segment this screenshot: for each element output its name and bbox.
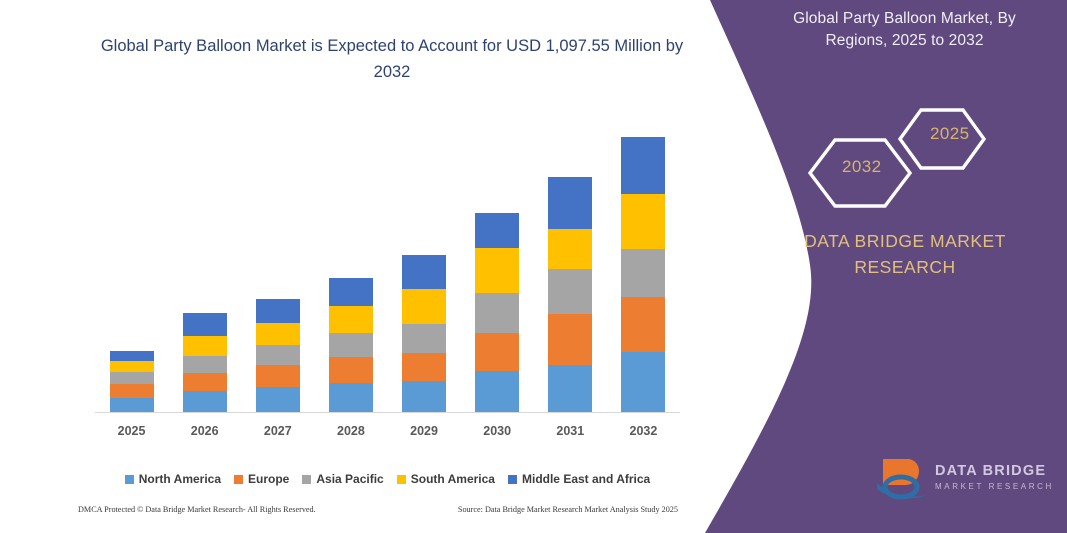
- segment-middle-east-and-africa-2026[interactable]: [183, 313, 227, 336]
- segment-asia-pacific-2030[interactable]: [475, 293, 519, 333]
- segment-south-america-2025[interactable]: [110, 361, 154, 372]
- segment-asia-pacific-2028[interactable]: [329, 333, 373, 357]
- segment-north-america-2028[interactable]: [329, 383, 373, 413]
- segment-middle-east-and-africa-2028[interactable]: [329, 278, 373, 306]
- segment-middle-east-and-africa-2025[interactable]: [110, 351, 154, 361]
- x-axis-line: [95, 412, 680, 413]
- bar-2030[interactable]: [475, 213, 519, 413]
- segment-north-america-2032[interactable]: [621, 352, 665, 413]
- segment-asia-pacific-2029[interactable]: [402, 324, 446, 353]
- bar-2027[interactable]: [256, 299, 300, 413]
- segment-asia-pacific-2025[interactable]: [110, 372, 154, 384]
- x-axis-label-2027: 2027: [243, 424, 313, 438]
- legend-swatch-icon: [234, 475, 243, 484]
- segment-north-america-2029[interactable]: [402, 381, 446, 413]
- side-panel-title: Global Party Balloon Market, By Regions,…: [762, 8, 1047, 53]
- segment-north-america-2031[interactable]: [548, 365, 592, 413]
- segment-middle-east-and-africa-2027[interactable]: [256, 299, 300, 323]
- segment-europe-2031[interactable]: [548, 314, 592, 365]
- segment-europe-2026[interactable]: [183, 373, 227, 391]
- legend-label: South America: [411, 472, 495, 486]
- bar-2028[interactable]: [329, 278, 373, 413]
- legend-item-middle-east-and-africa[interactable]: Middle East and Africa: [508, 472, 650, 486]
- bar-2032[interactable]: [621, 137, 665, 413]
- footer: DMCA Protected © Data Bridge Market Rese…: [78, 505, 678, 514]
- stacked-bar-chart: [95, 120, 680, 413]
- side-panel-content: Global Party Balloon Market, By Regions,…: [740, 0, 1067, 533]
- x-axis-label-2032: 2032: [608, 424, 678, 438]
- footer-source: Source: Data Bridge Market Research Mark…: [458, 505, 678, 514]
- brand-name: DATA BRIDGE MARKET RESEARCH: [760, 228, 1050, 281]
- x-axis-label-2028: 2028: [316, 424, 386, 438]
- segment-north-america-2026[interactable]: [183, 391, 227, 413]
- segment-north-america-2027[interactable]: [256, 387, 300, 413]
- segment-middle-east-and-africa-2029[interactable]: [402, 255, 446, 289]
- segment-north-america-2025[interactable]: [110, 398, 154, 413]
- segment-south-america-2032[interactable]: [621, 194, 665, 249]
- segment-middle-east-and-africa-2032[interactable]: [621, 137, 665, 194]
- x-axis-label-2025: 2025: [97, 424, 167, 438]
- segment-europe-2025[interactable]: [110, 384, 154, 398]
- segment-south-america-2031[interactable]: [548, 229, 592, 269]
- hexagon-start-year-label: 2025: [930, 124, 969, 144]
- segment-europe-2028[interactable]: [329, 357, 373, 383]
- segment-europe-2029[interactable]: [402, 353, 446, 381]
- hexagon-group: 2032 2025: [790, 95, 1030, 215]
- infographic-root: Global Party Balloon Market, By Regions,…: [0, 0, 1067, 533]
- segment-south-america-2028[interactable]: [329, 306, 373, 333]
- logo-line-2: MARKET RESEARCH: [935, 482, 1054, 491]
- hexagon-shapes: [790, 95, 1030, 215]
- x-axis-label-2030: 2030: [462, 424, 532, 438]
- data-bridge-logo: DATA BRIDGE MARKET RESEARCH: [875, 455, 1065, 515]
- bar-2031[interactable]: [548, 177, 592, 413]
- legend-item-south-america[interactable]: South America: [397, 472, 495, 486]
- legend-item-asia-pacific[interactable]: Asia Pacific: [302, 472, 383, 486]
- legend-swatch-icon: [508, 475, 517, 484]
- segment-europe-2032[interactable]: [621, 297, 665, 352]
- legend-label: Asia Pacific: [316, 472, 383, 486]
- segment-south-america-2030[interactable]: [475, 248, 519, 293]
- legend-label: Middle East and Africa: [522, 472, 650, 486]
- segment-south-america-2027[interactable]: [256, 323, 300, 345]
- bar-2029[interactable]: [402, 255, 446, 413]
- segment-asia-pacific-2032[interactable]: [621, 249, 665, 297]
- legend-item-north-america[interactable]: North America: [125, 472, 221, 486]
- x-axis-label-2026: 2026: [170, 424, 240, 438]
- x-axis-label-2031: 2031: [535, 424, 605, 438]
- legend-label: Europe: [248, 472, 289, 486]
- chart-legend: North AmericaEuropeAsia PacificSouth Ame…: [95, 472, 680, 486]
- segment-middle-east-and-africa-2030[interactable]: [475, 213, 519, 248]
- segment-asia-pacific-2026[interactable]: [183, 356, 227, 373]
- segment-north-america-2030[interactable]: [475, 371, 519, 413]
- logo-wordmark: DATA BRIDGE MARKET RESEARCH: [935, 463, 1054, 491]
- segment-asia-pacific-2027[interactable]: [256, 345, 300, 365]
- segment-asia-pacific-2031[interactable]: [548, 269, 592, 314]
- hexagon-end-year-label: 2032: [842, 157, 881, 177]
- footer-copyright: DMCA Protected © Data Bridge Market Rese…: [78, 505, 316, 514]
- bar-2026[interactable]: [183, 313, 227, 413]
- segment-south-america-2029[interactable]: [402, 289, 446, 324]
- segment-middle-east-and-africa-2031[interactable]: [548, 177, 592, 229]
- segment-europe-2030[interactable]: [475, 333, 519, 371]
- logo-line-1: DATA BRIDGE: [935, 463, 1054, 479]
- legend-item-europe[interactable]: Europe: [234, 472, 289, 486]
- x-axis-labels: 20252026202720282029203020312032: [95, 424, 680, 444]
- legend-swatch-icon: [302, 475, 311, 484]
- legend-swatch-icon: [397, 475, 406, 484]
- x-axis-label-2029: 2029: [389, 424, 459, 438]
- segment-europe-2027[interactable]: [256, 365, 300, 387]
- legend-swatch-icon: [125, 475, 134, 484]
- bar-2025[interactable]: [110, 351, 154, 413]
- chart-title: Global Party Balloon Market is Expected …: [92, 34, 692, 85]
- logo-mark-icon: [875, 455, 933, 503]
- segment-south-america-2026[interactable]: [183, 336, 227, 356]
- legend-label: North America: [139, 472, 221, 486]
